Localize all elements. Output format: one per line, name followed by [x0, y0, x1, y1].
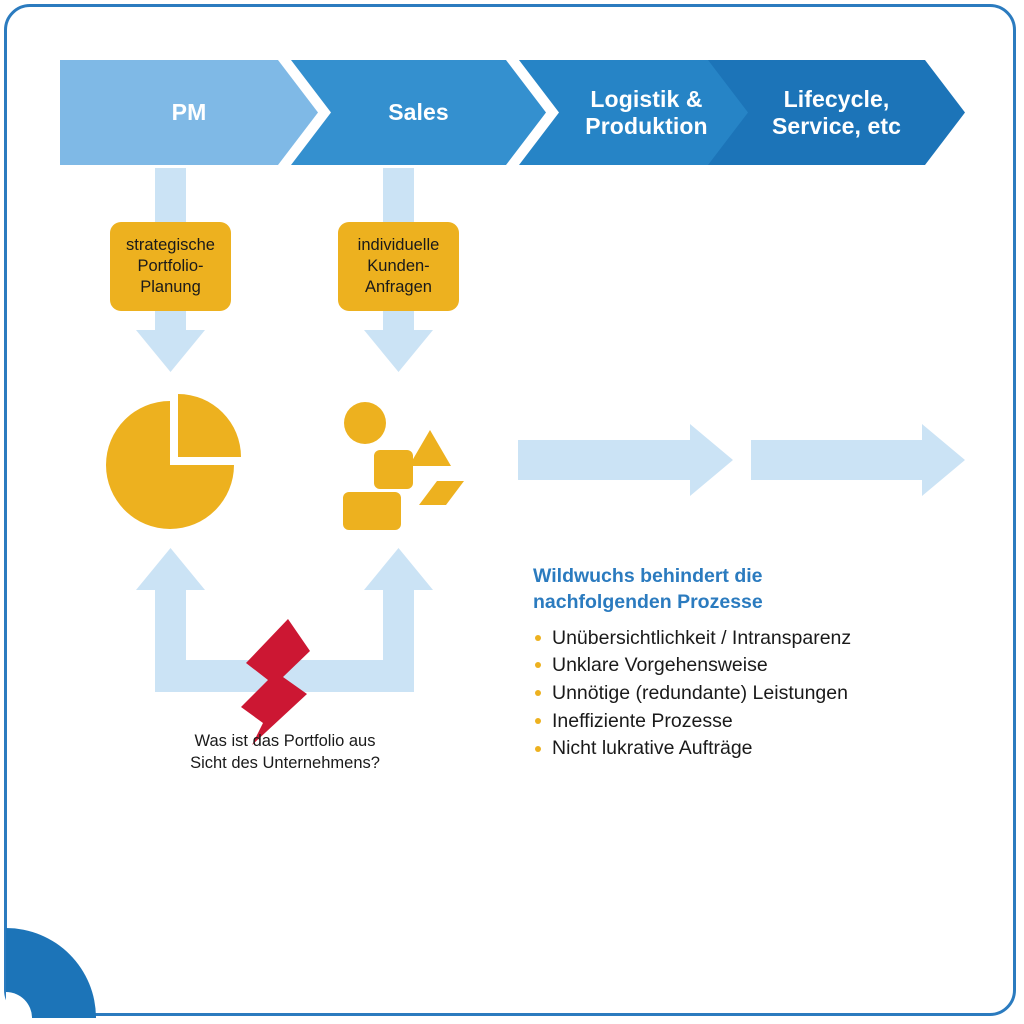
bottom-question-caption: Was ist das Portfolio aus Sicht des Unte… — [120, 731, 450, 775]
input-box-label: strategische Portfolio- Planung — [126, 235, 215, 298]
findings-bullet-list: Unübersichtlichkeit / Intransparenz Unkl… — [533, 625, 953, 763]
list-item-label: Ineffiziente Prozesse — [552, 710, 733, 732]
process-stage-label: PM — [172, 99, 207, 126]
list-item: Ineffiziente Prozesse — [533, 708, 953, 736]
input-box-label: individuelle Kunden- Anfragen — [358, 235, 440, 298]
bullet-dot-icon — [535, 690, 541, 696]
list-item-label: Nicht lukrative Aufträge — [552, 737, 753, 759]
process-stage-label: Logistik & Produktion — [585, 86, 707, 140]
mixed-shapes-icon — [343, 402, 464, 530]
list-item: Unnötige (redundante) Leistungen — [533, 680, 953, 708]
process-stage-label: Sales — [388, 99, 449, 126]
list-item: Unklare Vorgehensweise — [533, 652, 953, 680]
flow-arrow-right-1 — [518, 424, 733, 496]
process-stage-label: Lifecycle, Service, etc — [772, 86, 901, 140]
corner-accent-shape — [6, 928, 96, 1018]
bullet-dot-icon — [535, 662, 541, 668]
pie-chart-icon — [106, 394, 241, 529]
list-item-label: Unklare Vorgehensweise — [552, 654, 768, 676]
diagram-canvas: PM Sales Logistik & Produktion Lifecycle… — [0, 0, 1024, 1024]
list-item-label: Unübersichtlichkeit / Intransparenz — [552, 627, 851, 649]
bullet-dot-icon — [535, 746, 541, 752]
bullet-dot-icon — [535, 718, 541, 724]
findings-heading: Wildwuchs behindert die nachfolgenden Pr… — [533, 563, 953, 616]
process-stage-sales[interactable]: Sales — [291, 60, 546, 165]
list-item-label: Unnötige (redundante) Leistungen — [552, 682, 848, 704]
input-box-individuelle-kunden-anfragen[interactable]: individuelle Kunden- Anfragen — [338, 222, 459, 311]
flow-arrow-right-2 — [751, 424, 965, 496]
process-stage-pm[interactable]: PM — [60, 60, 318, 165]
list-item: Nicht lukrative Aufträge — [533, 735, 953, 763]
bullet-dot-icon — [535, 635, 541, 641]
findings-panel: Wildwuchs behindert die nachfolgenden Pr… — [533, 563, 953, 763]
list-item: Unübersichtlichkeit / Intransparenz — [533, 625, 953, 653]
input-box-strategische-portfolio-planung[interactable]: strategische Portfolio- Planung — [110, 222, 231, 311]
